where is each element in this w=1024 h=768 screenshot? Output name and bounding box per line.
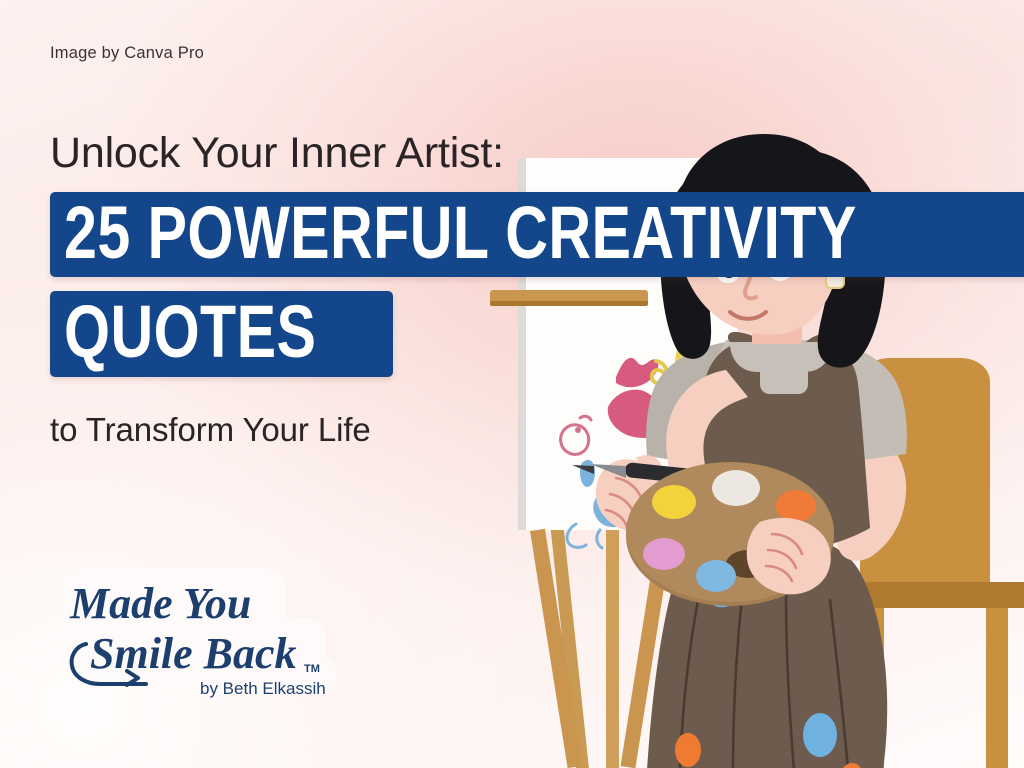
paint-yellow <box>652 485 696 519</box>
headline-banner-secondary-text: QUOTES <box>64 296 316 367</box>
headline-banner-primary: 25 POWERFUL CREATIVITY <box>50 192 1024 277</box>
paint-blue <box>696 560 736 592</box>
poster-canvas: Image by Canva Pro <box>0 0 1024 768</box>
headline-block: Unlock Your Inner Artist: 25 POWERFUL CR… <box>50 130 740 449</box>
headline-line-bottom: to Transform Your Life <box>50 411 740 449</box>
brand-logo[interactable]: Made You Smile Back TM by Beth Elkassih <box>56 560 356 710</box>
headline-banner-primary-text: 25 POWERFUL CREATIVITY <box>64 197 857 268</box>
paint-orange <box>776 490 816 522</box>
headline-line-top: Unlock Your Inner Artist: <box>50 130 740 176</box>
logo-byline: by Beth Elkassih <box>200 679 326 698</box>
logo-trademark: TM <box>304 663 320 675</box>
headline-banner-secondary: QUOTES <box>50 291 393 376</box>
logo-line-2: Smile Back <box>90 629 297 678</box>
paint-white <box>712 470 760 506</box>
image-credit: Image by Canva Pro <box>50 44 204 63</box>
paint-pink <box>643 538 685 570</box>
overalls-bib-opening <box>760 346 808 394</box>
logo-line-1: Made You <box>69 579 251 628</box>
